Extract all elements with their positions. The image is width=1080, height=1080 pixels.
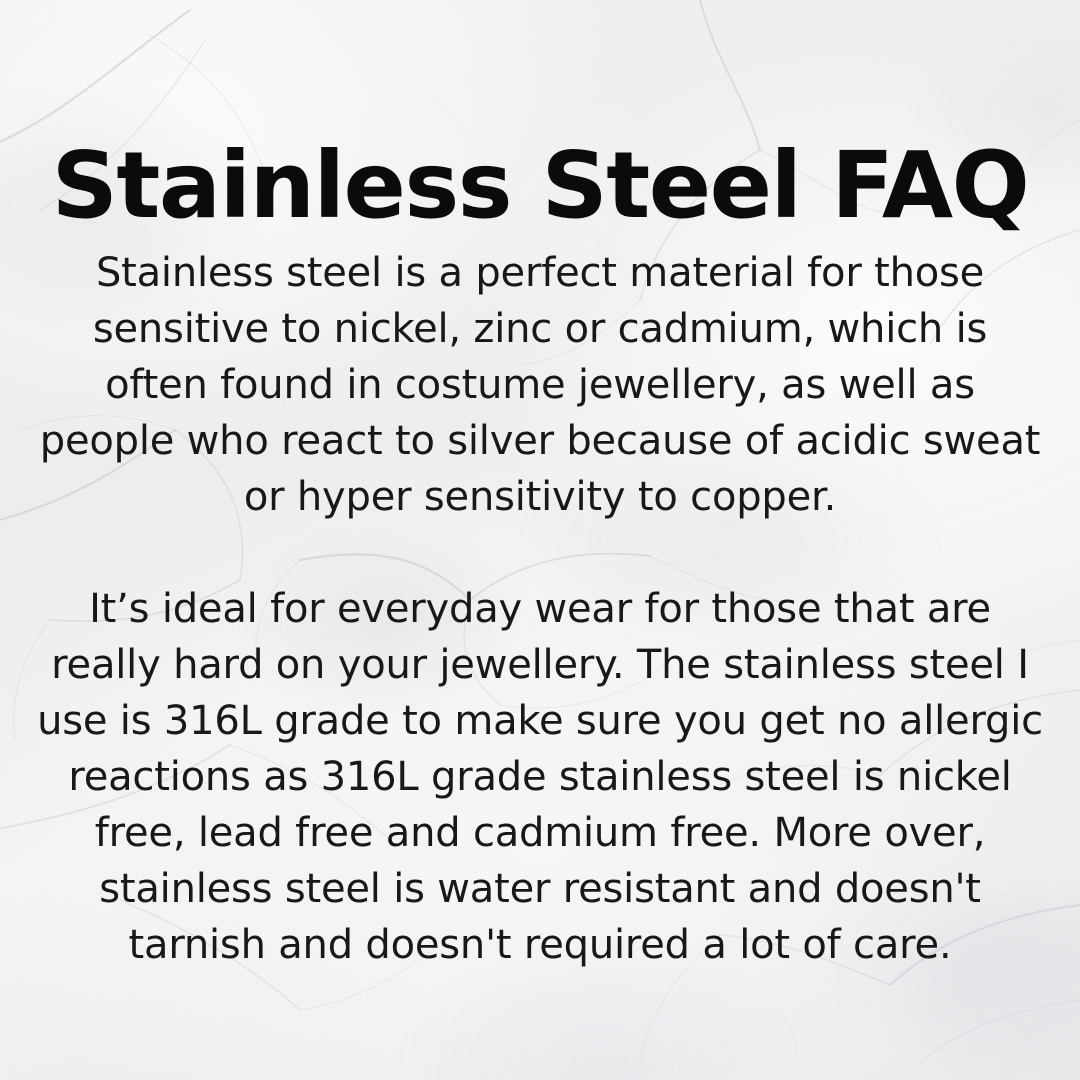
faq-paragraph-2: It’s ideal for everyday wear for those t… — [36, 581, 1044, 973]
faq-body: Stainless steel is a perfect material fo… — [36, 245, 1044, 973]
faq-paragraph-1: Stainless steel is a perfect material fo… — [36, 245, 1044, 525]
page-title: Stainless Steel FAQ — [40, 140, 1040, 232]
poster-content: Stainless Steel FAQ Stainless steel is a… — [0, 0, 1080, 1080]
faq-poster: Stainless Steel FAQ Stainless steel is a… — [0, 0, 1080, 1080]
